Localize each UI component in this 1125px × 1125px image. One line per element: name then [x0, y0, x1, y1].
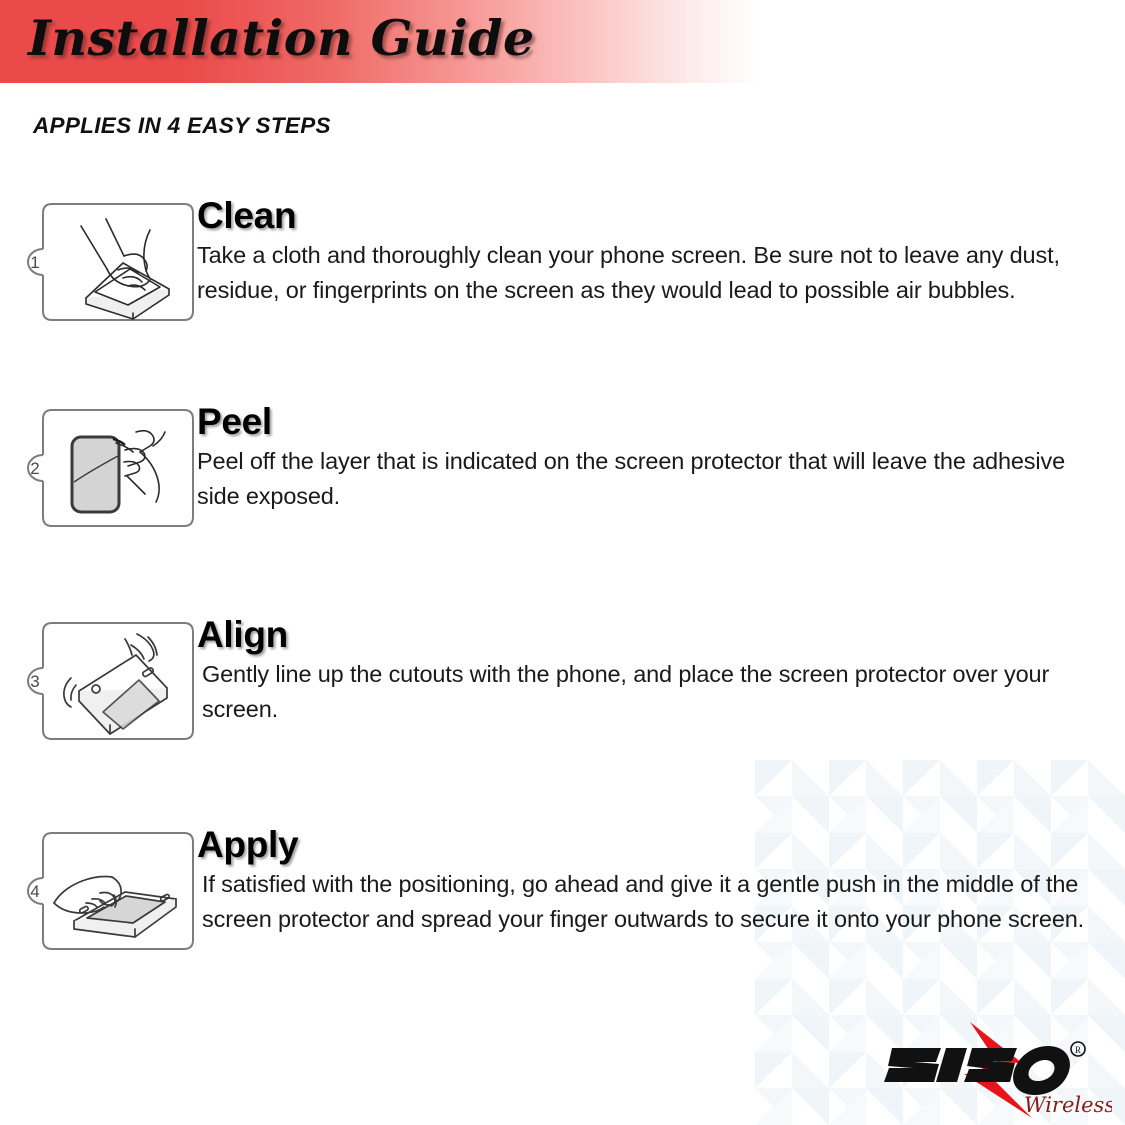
step-4-title: Apply — [197, 825, 1097, 865]
step-4-body: Apply If satisfied with the positioning,… — [197, 825, 1097, 936]
svg-text:R: R — [1075, 1045, 1081, 1055]
page-title: Installation Guide — [28, 9, 535, 67]
subtitle: APPLIES IN 4 EASY STEPS — [33, 113, 331, 139]
step-1-icon-box: 1 — [24, 196, 196, 328]
fingers-peeling-film-icon — [72, 431, 165, 512]
zizo-wordmark — [884, 1046, 1070, 1095]
step-2-title: Peel — [197, 402, 1097, 442]
step-1-text: Take a cloth and thoroughly clean your p… — [197, 238, 1097, 307]
step-1-title: Clean — [197, 196, 1097, 236]
step-3-body: Align Gently line up the cutouts with th… — [197, 615, 1097, 726]
zizo-wireless-logo: R Wireless — [872, 1020, 1112, 1120]
step-2-text: Peel off the layer that is indicated on … — [197, 444, 1097, 513]
header-banner: Installation Guide — [0, 0, 1125, 83]
step-2-number: 2 — [30, 459, 39, 478]
step-4-number: 4 — [30, 882, 39, 901]
step-3-text: Gently line up the cutouts with the phon… — [197, 657, 1097, 726]
step-1-number: 1 — [30, 253, 39, 272]
step-2-icon-box: 2 — [24, 402, 196, 534]
registered-trademark-icon: R — [1071, 1042, 1085, 1056]
hand-wiping-phone-icon — [81, 219, 169, 319]
installation-guide-page: Installation Guide APPLIES IN 4 EASY STE… — [0, 0, 1125, 1125]
step-3-icon-box: 3 — [24, 615, 196, 747]
step-3-number: 3 — [30, 672, 39, 691]
aligning-protector-icon — [64, 634, 167, 734]
step-3-title: Align — [197, 615, 1097, 655]
step-2-body: Peel Peel off the layer that is indicate… — [197, 402, 1097, 513]
step-4-text: If satisfied with the positioning, go ah… — [197, 867, 1097, 936]
step-1-body: Clean Take a cloth and thoroughly clean … — [197, 196, 1097, 307]
finger-pressing-screen-icon — [54, 877, 176, 938]
logo-tagline: Wireless — [1024, 1093, 1112, 1117]
step-4-icon-box: 4 — [24, 825, 196, 957]
